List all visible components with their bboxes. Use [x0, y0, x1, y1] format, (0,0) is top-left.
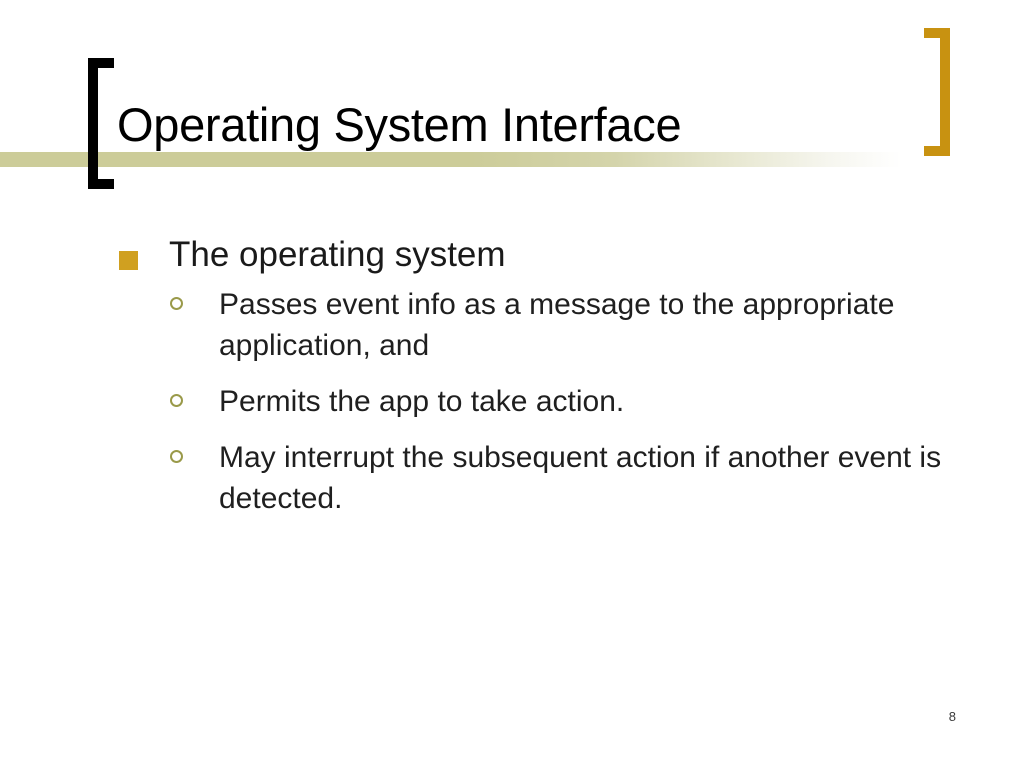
page-number: 8 — [949, 709, 956, 724]
right-bracket-top-arm — [924, 28, 950, 38]
right-bracket-decoration — [924, 28, 950, 156]
bullet-level1-item: The operating system — [112, 232, 952, 278]
left-bracket-stem — [88, 58, 98, 189]
presentation-slide: Operating System Interface The operating… — [0, 0, 1024, 768]
slide-body: The operating system Passes event info a… — [112, 232, 952, 519]
slide-title: Operating System Interface — [117, 97, 681, 153]
header-gradient-band — [0, 152, 1024, 167]
hollow-circle-bullet-icon — [170, 450, 183, 463]
left-bracket-bottom-arm — [88, 179, 114, 189]
bullet-level2-label: Passes event info as a message to the ap… — [219, 288, 894, 362]
hollow-circle-bullet-icon — [170, 297, 183, 310]
hollow-circle-bullet-icon — [170, 394, 183, 407]
left-bracket-top-arm — [88, 58, 114, 68]
right-bracket-bottom-arm — [924, 146, 950, 156]
bullet-level2-list: Passes event info as a message to the ap… — [112, 284, 952, 519]
bullet-level2-label: Permits the app to take action. — [219, 385, 624, 418]
right-bracket-stem — [940, 28, 950, 156]
filled-square-bullet-icon — [119, 251, 138, 270]
bullet-level2-label: May interrupt the subsequent action if a… — [219, 441, 941, 515]
bullet-level2-item: Permits the app to take action. — [112, 381, 952, 422]
bullet-level2-item: May interrupt the subsequent action if a… — [112, 437, 952, 519]
bullet-level2-item: Passes event info as a message to the ap… — [112, 284, 952, 366]
left-bracket-decoration — [88, 58, 114, 189]
bullet-level1-label: The operating system — [169, 235, 506, 274]
